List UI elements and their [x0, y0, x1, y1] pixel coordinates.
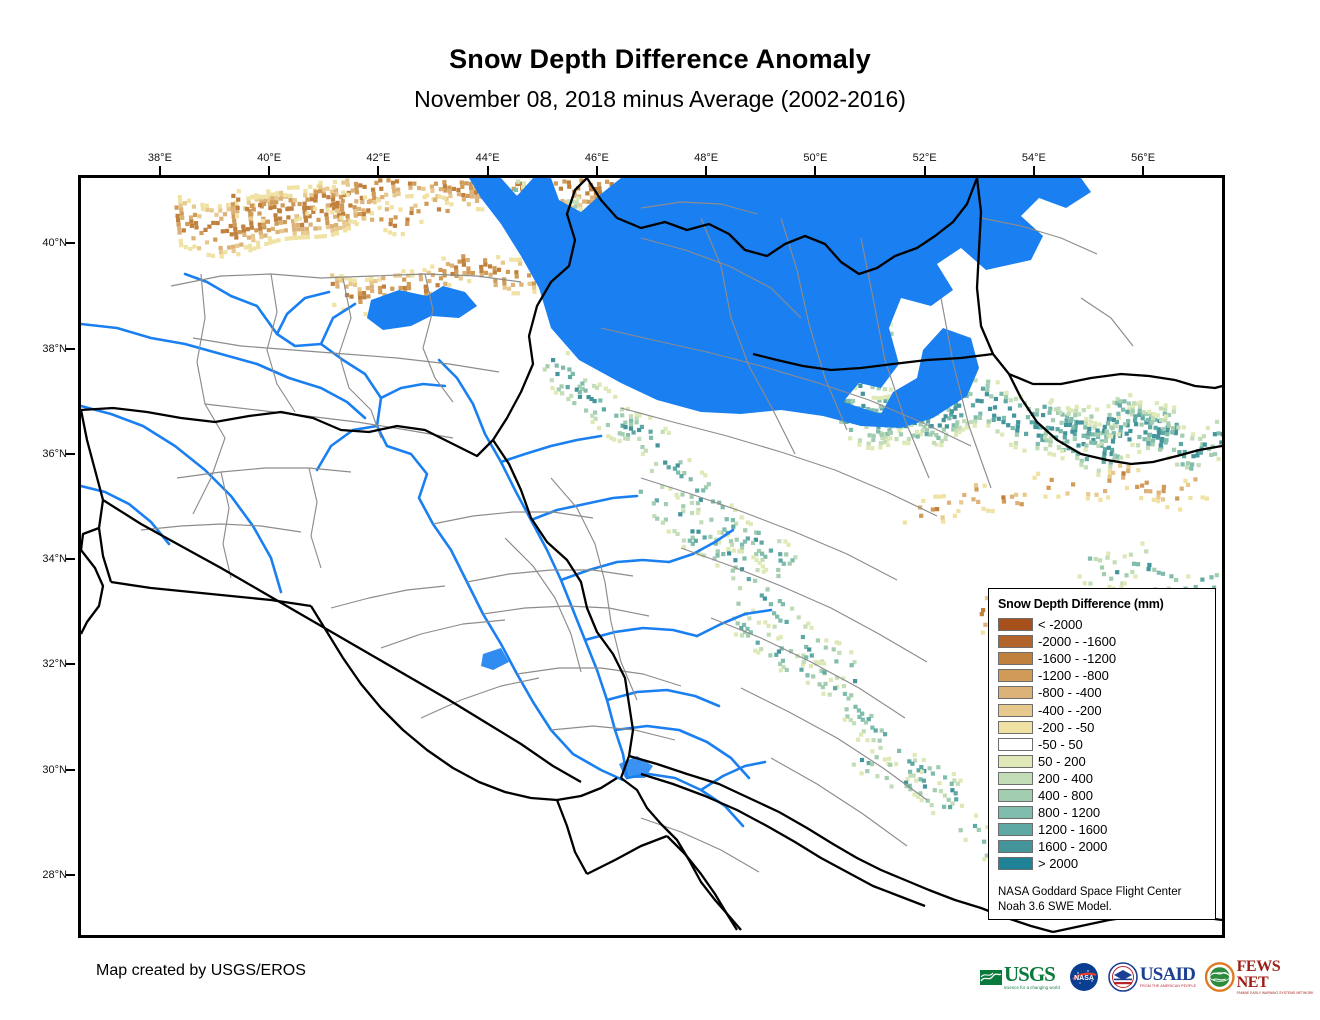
legend-swatch [998, 857, 1033, 870]
legend-swatch [998, 755, 1033, 768]
lon-tick-mark [159, 166, 161, 175]
map-legend[interactable]: Snow Depth Difference (mm) < -2000-2000 … [988, 588, 1216, 920]
legend-swatch [998, 806, 1033, 819]
legend-swatch [998, 823, 1033, 836]
legend-row: -50 - 50 [998, 736, 1206, 753]
legend-row: 800 - 1200 [998, 804, 1206, 821]
legend-swatch [998, 772, 1033, 785]
legend-label: -1200 - -800 [1038, 669, 1109, 682]
legend-items: < -2000-2000 - -1600-1600 - -1200-1200 -… [998, 616, 1206, 872]
legend-label: -50 - 50 [1038, 738, 1083, 751]
lat-tick-mark [66, 453, 75, 455]
map-credit: Map created by USGS/EROS [96, 962, 306, 980]
lon-tick-mark [596, 166, 598, 175]
legend-label: 50 - 200 [1038, 755, 1086, 768]
usaid-logo[interactable]: USAID FROM THE AMERICAN PEOPLE [1108, 960, 1196, 994]
legend-swatch [998, 686, 1033, 699]
legend-row: 1600 - 2000 [998, 838, 1206, 855]
legend-swatch [998, 635, 1033, 648]
lon-tick-mark [377, 166, 379, 175]
lat-tick-label: 38°N [42, 343, 67, 355]
usgs-logo-text: USGS [1004, 964, 1060, 985]
legend-row: 1200 - 1600 [998, 821, 1206, 838]
lon-tick-label: 44°E [476, 152, 500, 164]
lon-tick-label: 52°E [913, 152, 937, 164]
lat-tick-mark [66, 242, 75, 244]
lat-tick-label: 40°N [42, 237, 67, 249]
legend-row: > 2000 [998, 855, 1206, 872]
lon-tick-label: 40°E [257, 152, 281, 164]
lon-tick-label: 54°E [1022, 152, 1046, 164]
svg-text:NASA: NASA [1074, 975, 1094, 982]
legend-label: 800 - 1200 [1038, 806, 1100, 819]
legend-swatch [998, 738, 1033, 751]
legend-swatch [998, 669, 1033, 682]
lat-tick-label: 30°N [42, 764, 67, 776]
legend-row: 200 - 400 [998, 770, 1206, 787]
lon-tick-mark [705, 166, 707, 175]
lon-tick-label: 48°E [694, 152, 718, 164]
legend-row: -1600 - -1200 [998, 650, 1206, 667]
lon-tick-label: 50°E [803, 152, 827, 164]
lon-tick-label: 38°E [148, 152, 172, 164]
legend-row: -2000 - -1600 [998, 633, 1206, 650]
lon-tick-mark [487, 166, 489, 175]
lat-tick-mark [66, 874, 75, 876]
legend-row: -400 - -200 [998, 701, 1206, 718]
lat-tick-mark [66, 663, 75, 665]
legend-row: 50 - 200 [998, 753, 1206, 770]
fewsnet-logo[interactable]: FEWS NET FAMINE EARLY WARNING SYSTEMS NE… [1205, 960, 1314, 994]
lat-tick-label: 36°N [42, 448, 67, 460]
legend-row: -200 - -50 [998, 719, 1206, 736]
lat-tick-label: 34°N [42, 553, 67, 565]
legend-label: -400 - -200 [1038, 704, 1102, 717]
page-title: Snow Depth Difference Anomaly [0, 44, 1320, 75]
agency-logos: USGS science for a changing world NASA U… [980, 956, 1242, 998]
water-bodies [367, 178, 1091, 778]
legend-swatch [998, 618, 1033, 631]
legend-note-line1: NASA Goddard Space Flight Center [998, 885, 1206, 900]
legend-swatch [998, 789, 1033, 802]
lon-tick-mark [1142, 166, 1144, 175]
page-subtitle: November 08, 2018 minus Average (2002-20… [0, 86, 1320, 113]
legend-swatch [998, 652, 1033, 665]
lon-tick-label: 56°E [1131, 152, 1155, 164]
lon-tick-label: 46°E [585, 152, 609, 164]
legend-row: -800 - -400 [998, 684, 1206, 701]
legend-row: 400 - 800 [998, 787, 1206, 804]
lat-tick-mark [66, 769, 75, 771]
legend-label: -2000 - -1600 [1038, 635, 1116, 648]
legend-label: > 2000 [1038, 857, 1078, 870]
legend-swatch [998, 721, 1033, 734]
legend-swatch [998, 704, 1033, 717]
legend-label: 400 - 800 [1038, 789, 1093, 802]
legend-row: < -2000 [998, 616, 1206, 633]
lon-tick-mark [1033, 166, 1035, 175]
legend-label: 1200 - 1600 [1038, 823, 1107, 836]
lat-tick-label: 28°N [42, 869, 67, 881]
legend-label: < -2000 [1038, 618, 1082, 631]
legend-label: -800 - -400 [1038, 686, 1102, 699]
legend-source-note: NASA Goddard Space Flight Center Noah 3.… [998, 879, 1206, 914]
usaid-logo-text: USAID [1140, 965, 1196, 984]
usgs-logo[interactable]: USGS science for a changing world [980, 960, 1060, 994]
legend-swatch [998, 840, 1033, 853]
usgs-logo-tagline: science for a changing world [1004, 986, 1060, 990]
usgs-wave-icon [980, 970, 1002, 985]
lat-tick-mark [66, 348, 75, 350]
legend-label: 200 - 400 [1038, 772, 1093, 785]
nasa-logo[interactable]: NASA [1069, 960, 1099, 994]
legend-note-line2: Noah 3.6 SWE Model. [998, 900, 1206, 915]
usaid-logo-tagline: FROM THE AMERICAN PEOPLE [1140, 985, 1196, 989]
nasa-meatball-icon: NASA [1069, 962, 1099, 992]
lat-tick-label: 32°N [42, 658, 67, 670]
fewsnet-globe-icon [1205, 962, 1234, 992]
lon-tick-mark [268, 166, 270, 175]
usaid-seal-icon [1108, 962, 1138, 992]
legend-row: -1200 - -800 [998, 667, 1206, 684]
legend-label: 1600 - 2000 [1038, 840, 1107, 853]
lon-tick-mark [924, 166, 926, 175]
lon-tick-mark [814, 166, 816, 175]
fewsnet-logo-tagline: FAMINE EARLY WARNING SYSTEMS NETWORK [1237, 992, 1315, 995]
legend-label: -200 - -50 [1038, 721, 1094, 734]
fewsnet-logo-text: FEWS NET [1237, 959, 1315, 991]
lon-tick-label: 42°E [366, 152, 390, 164]
lat-tick-mark [66, 558, 75, 560]
legend-label: -1600 - -1200 [1038, 652, 1116, 665]
legend-title: Snow Depth Difference (mm) [998, 597, 1206, 611]
